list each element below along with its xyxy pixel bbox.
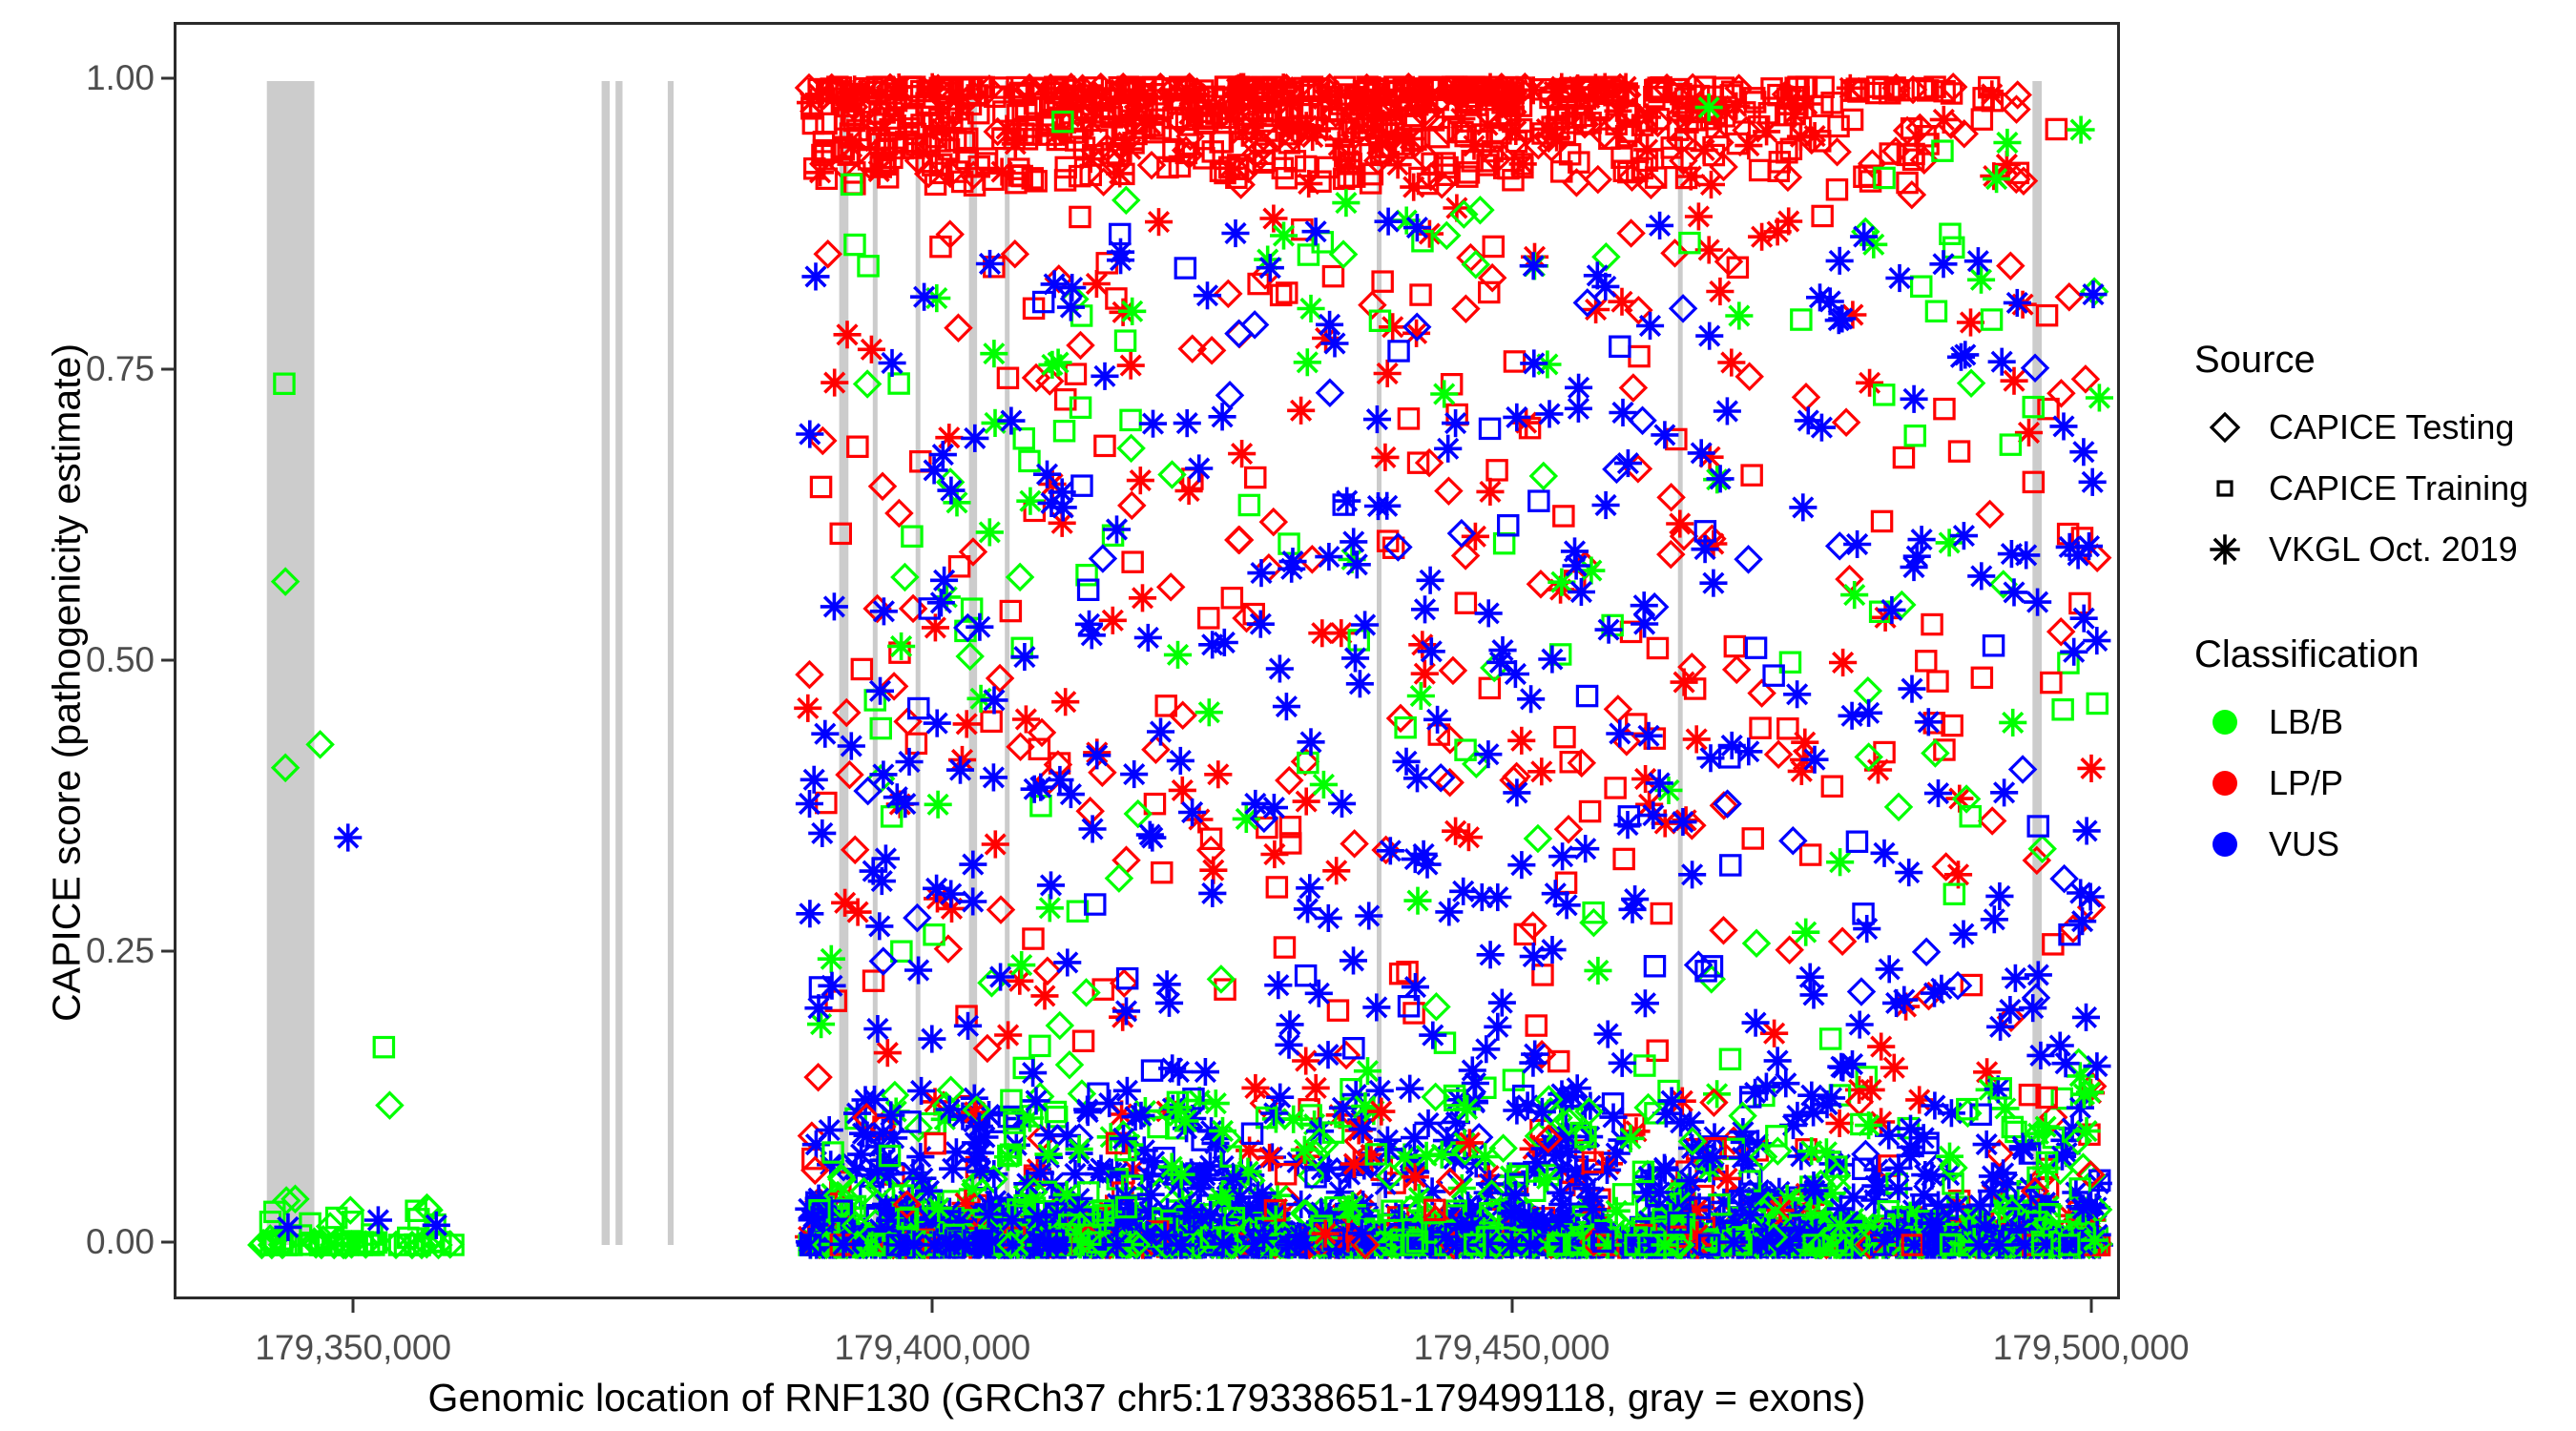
y-tick-label-2: 0.50 xyxy=(86,640,155,680)
legend-item-lb-b[interactable]: LB/B xyxy=(2194,692,2576,753)
circle-icon xyxy=(2194,698,2255,746)
exon-band-3 xyxy=(668,81,674,1245)
legend-label: VUS xyxy=(2269,824,2339,864)
scatter-plot-canvas xyxy=(177,25,2120,1299)
y-tick-mark-4 xyxy=(161,1241,174,1244)
y-tick-label-1: 0.75 xyxy=(86,349,155,389)
exon-bands xyxy=(267,81,2042,1245)
y-tick-mark-1 xyxy=(161,368,174,371)
y-tick-mark-2 xyxy=(161,659,174,662)
legend-item-vkgl-oct-2019[interactable]: VKGL Oct. 2019 xyxy=(2194,519,2576,580)
legend-item-lp-p[interactable]: LP/P xyxy=(2194,753,2576,814)
plot-panel xyxy=(174,22,2120,1299)
legend-label: LB/B xyxy=(2269,702,2343,742)
legend-group-source: SourceCAPICE TestingCAPICE TrainingVKGL … xyxy=(2194,339,2576,580)
x-tick-mark-2 xyxy=(1510,1299,1513,1313)
circle-icon xyxy=(2194,759,2255,807)
asterisk-icon xyxy=(2194,526,2255,573)
legend-title-classification: Classification xyxy=(2194,633,2576,676)
x-tick-mark-3 xyxy=(2089,1299,2092,1313)
x-tick-label-1: 179,400,000 xyxy=(834,1328,1030,1368)
y-tick-mark-3 xyxy=(161,950,174,953)
x-tick-label-3: 179,500,000 xyxy=(1993,1328,2190,1368)
exon-band-1 xyxy=(602,81,611,1245)
x-tick-mark-1 xyxy=(931,1299,934,1313)
y-tick-mark-0 xyxy=(161,77,174,80)
x-axis-title: Genomic location of RNF130 (GRCh37 chr5:… xyxy=(174,1376,2120,1421)
chart-figure: CAPICE score (pathogenicity estimate) 1.… xyxy=(0,0,2576,1431)
y-axis-title: CAPICE score (pathogenicity estimate) xyxy=(45,73,90,1294)
legend-item-capice-training[interactable]: CAPICE Training xyxy=(2194,458,2576,519)
x-tick-mark-0 xyxy=(352,1299,355,1313)
y-tick-label-3: 0.25 xyxy=(86,931,155,971)
legend-group-classification: ClassificationLB/BLP/PVUS xyxy=(2194,633,2576,875)
data-points xyxy=(249,73,2113,1259)
legend-label: LP/P xyxy=(2269,763,2343,803)
circle-icon xyxy=(2194,820,2255,868)
legend-label: CAPICE Testing xyxy=(2269,407,2514,447)
legend-item-vus[interactable]: VUS xyxy=(2194,814,2576,875)
x-tick-label-0: 179,350,000 xyxy=(255,1328,451,1368)
legend-label: CAPICE Training xyxy=(2269,468,2528,508)
legend-label: VKGL Oct. 2019 xyxy=(2269,529,2518,570)
y-tick-label-0: 1.00 xyxy=(86,58,155,98)
exon-band-6 xyxy=(916,81,921,1245)
square-icon xyxy=(2194,465,2255,512)
legend-title-source: Source xyxy=(2194,339,2576,382)
exon-band-0 xyxy=(267,81,315,1245)
legend: SourceCAPICE TestingCAPICE TrainingVKGL … xyxy=(2194,339,2576,928)
exon-band-2 xyxy=(615,81,622,1245)
diamond-icon xyxy=(2194,404,2255,451)
exon-band-11 xyxy=(2032,81,2042,1245)
legend-item-capice-testing[interactable]: CAPICE Testing xyxy=(2194,397,2576,458)
y-tick-label-4: 0.00 xyxy=(86,1222,155,1262)
x-tick-label-2: 179,450,000 xyxy=(1414,1328,1610,1368)
